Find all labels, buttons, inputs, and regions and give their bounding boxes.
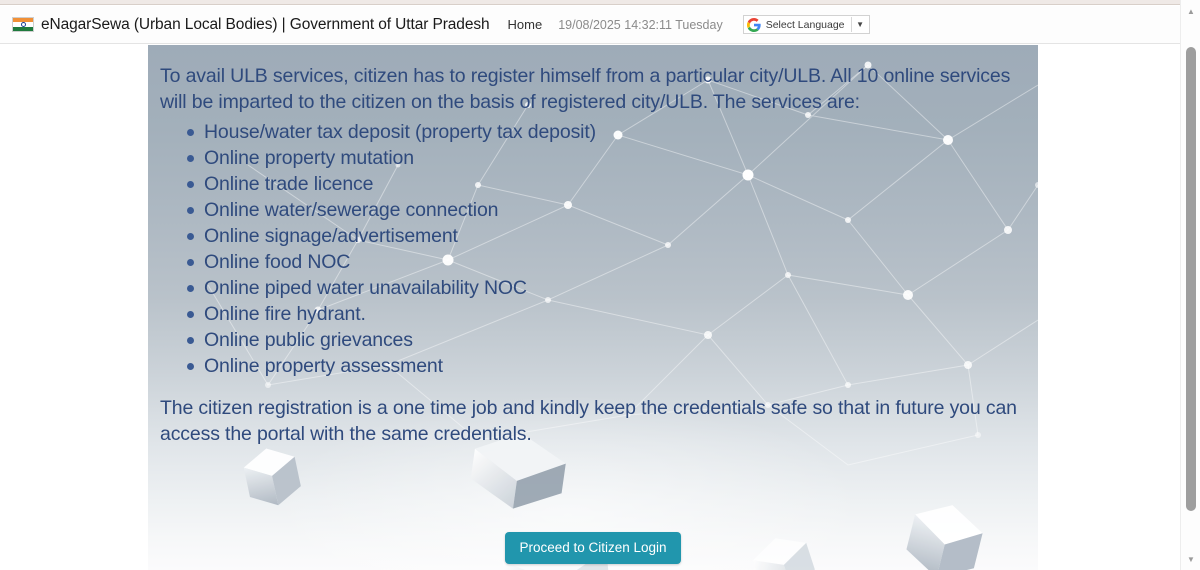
list-item: Online trade licence <box>160 171 1020 197</box>
vertical-scrollbar[interactable]: ▲ ▼ <box>1180 0 1200 570</box>
list-item: Online fire hydrant. <box>160 301 1020 327</box>
nav-home-link[interactable]: Home <box>508 17 543 32</box>
list-item: Online food NOC <box>160 249 1020 275</box>
list-item: Online public grievances <box>160 327 1020 353</box>
list-item: Online signage/advertisement <box>160 223 1020 249</box>
datetime-display: 19/08/2025 14:32:11 Tuesday <box>558 18 723 32</box>
language-selector[interactable]: Select Language ▼ <box>743 15 870 34</box>
list-item: Online property mutation <box>160 145 1020 171</box>
site-header: eNagarSewa (Urban Local Bodies) | Govern… <box>0 6 1180 44</box>
outro-paragraph: The citizen registration is a one time j… <box>160 395 1020 447</box>
proceed-to-citizen-login-button[interactable]: Proceed to Citizen Login <box>505 532 680 564</box>
list-item: Online piped water unavailability NOC <box>160 275 1020 301</box>
list-item: Online water/sewerage connection <box>160 197 1020 223</box>
page-root: eNagarSewa (Urban Local Bodies) | Govern… <box>0 0 1200 570</box>
panel-content: To avail ULB services, citizen has to re… <box>148 45 1038 570</box>
language-selector-label: Select Language <box>766 19 851 31</box>
list-item: Online property assessment <box>160 353 1020 379</box>
chevron-down-icon[interactable]: ▼ <box>852 15 869 34</box>
login-button-container: Proceed to Citizen Login <box>148 532 1038 564</box>
site-title: eNagarSewa (Urban Local Bodies) | Govern… <box>41 16 490 34</box>
browser-chrome-strip <box>0 0 1180 5</box>
content-panel: To avail ULB services, citizen has to re… <box>148 45 1038 570</box>
triangle-up-icon[interactable]: ▲ <box>1181 2 1200 20</box>
triangle-down-icon[interactable]: ▼ <box>1181 550 1200 568</box>
intro-paragraph: To avail ULB services, citizen has to re… <box>160 63 1020 115</box>
scrollbar-thumb[interactable] <box>1186 47 1196 511</box>
list-item: House/water tax deposit (property tax de… <box>160 119 1020 145</box>
google-g-icon <box>747 18 761 32</box>
india-flag-icon <box>12 17 34 32</box>
services-list: House/water tax deposit (property tax de… <box>160 119 1020 379</box>
